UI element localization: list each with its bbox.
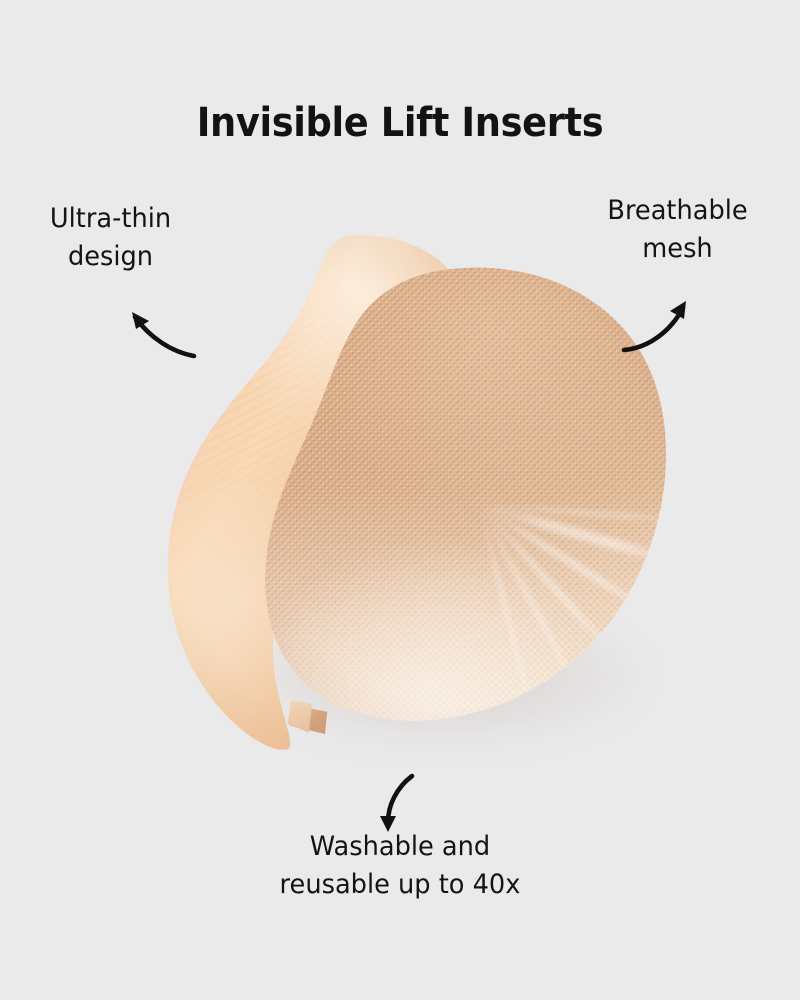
annotation-label-breathable-mesh: Breathable mesh (575, 192, 779, 268)
annotation-label-washable: Washable and reusable up to 40x (224, 828, 576, 904)
front-insert-body (248, 262, 668, 732)
front-insert (248, 262, 668, 732)
annotation-label-ultra-thin: Ultra-thin design (13, 200, 208, 276)
front-insert-edge-shading (248, 262, 668, 732)
infographic-canvas: Invisible Lift Inserts (0, 0, 800, 1000)
